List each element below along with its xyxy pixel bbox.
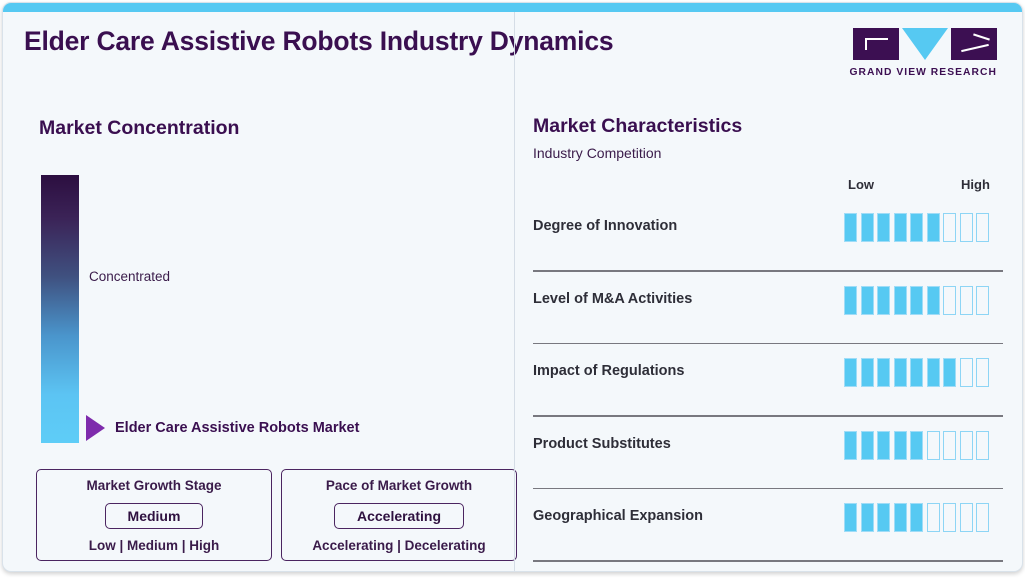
logo-triangle-icon: [902, 28, 948, 60]
logo-marks: [849, 28, 997, 62]
pace-of-market-growth-options: Accelerating | Decelerating: [312, 538, 485, 553]
rating-segment-empty: [960, 431, 973, 460]
rating-segment-filled: [877, 286, 890, 315]
rating-segment-filled: [861, 213, 874, 242]
characteristic-rating-bars: [844, 286, 989, 315]
rating-segment-filled: [910, 358, 923, 387]
infographic-card: Elder Care Assistive Robots Industry Dyn…: [2, 2, 1023, 572]
scale-label-concentrated: Concentrated: [89, 269, 170, 284]
market-concentration-title: Market Concentration: [39, 117, 239, 140]
stage-boxes: Market Growth Stage Medium Low | Medium …: [36, 469, 517, 561]
rating-segment-filled: [861, 358, 874, 387]
pace-of-market-growth-value: Accelerating: [334, 503, 464, 529]
rating-segment-empty: [943, 431, 956, 460]
characteristic-row: Geographical Expansion: [515, 489, 1023, 562]
rating-segment-empty: [960, 503, 973, 532]
characteristic-rating-bars: [844, 503, 989, 532]
rating-segment-empty: [943, 286, 956, 315]
market-growth-stage-options: Low | Medium | High: [89, 538, 220, 553]
scale-head-low: Low: [848, 177, 874, 192]
characteristic-label: Product Substitutes: [533, 436, 671, 452]
rating-segment-empty: [976, 213, 989, 242]
rating-segment-filled: [877, 358, 890, 387]
rating-segment-filled: [894, 286, 907, 315]
rating-segment-empty: [960, 286, 973, 315]
rating-segment-filled: [943, 358, 956, 387]
characteristic-row: Product Substitutes: [515, 417, 1023, 490]
market-growth-stage-value: Medium: [105, 503, 204, 529]
logo-g-block-icon: [853, 28, 899, 60]
market-characteristics-title: Market Characteristics: [533, 115, 742, 138]
rating-segment-empty: [976, 358, 989, 387]
rating-segment-empty: [976, 286, 989, 315]
row-divider: [533, 560, 1003, 562]
characteristics-rows: Degree of InnovationLevel of M&A Activit…: [515, 199, 1023, 562]
marker-label: Elder Care Assistive Robots Market: [115, 420, 359, 436]
rating-segment-empty: [960, 213, 973, 242]
rating-segment-filled: [927, 213, 940, 242]
rating-segment-filled: [861, 431, 874, 460]
market-position-marker: Elder Care Assistive Robots Market: [86, 415, 359, 441]
rating-segment-filled: [894, 358, 907, 387]
characteristic-row: Degree of Innovation: [515, 199, 1023, 272]
rating-segment-filled: [894, 431, 907, 460]
rating-segment-filled: [910, 213, 923, 242]
rating-segment-filled: [861, 503, 874, 532]
rating-segment-filled: [844, 431, 857, 460]
characteristic-rating-bars: [844, 431, 989, 460]
market-concentration-panel: Market Concentration Concentrated Fragme…: [3, 95, 513, 572]
rating-segment-empty: [960, 358, 973, 387]
header: Elder Care Assistive Robots Industry Dyn…: [3, 12, 1022, 90]
rating-segment-filled: [844, 503, 857, 532]
rating-segment-filled: [910, 431, 923, 460]
characteristic-rating-bars: [844, 358, 989, 387]
logo-wordmark: GRAND VIEW RESEARCH: [849, 67, 997, 78]
top-accent-bar: [3, 3, 1022, 12]
rating-segment-filled: [844, 286, 857, 315]
logo-r-block-icon: [951, 28, 997, 60]
rating-segment-empty: [943, 503, 956, 532]
characteristic-label: Geographical Expansion: [533, 508, 703, 524]
rating-segment-empty: [976, 431, 989, 460]
rating-segment-filled: [844, 358, 857, 387]
rating-segment-empty: [927, 503, 940, 532]
brand-logo: GRAND VIEW RESEARCH: [849, 28, 997, 78]
marker-arrow-icon: [86, 415, 105, 441]
characteristic-label: Degree of Innovation: [533, 218, 677, 234]
rating-segment-filled: [844, 213, 857, 242]
market-growth-stage-box: Market Growth Stage Medium Low | Medium …: [36, 469, 272, 561]
characteristic-row: Level of M&A Activities: [515, 272, 1023, 345]
rating-segment-filled: [927, 358, 940, 387]
rating-segment-filled: [894, 503, 907, 532]
pace-of-market-growth-title: Pace of Market Growth: [326, 478, 472, 493]
rating-segment-filled: [877, 503, 890, 532]
rating-segment-filled: [861, 286, 874, 315]
characteristic-label: Level of M&A Activities: [533, 291, 692, 307]
scale-head-high: High: [961, 177, 990, 192]
rating-segment-filled: [877, 213, 890, 242]
market-characteristics-panel: Market Characteristics Industry Competit…: [515, 95, 1023, 572]
characteristic-rating-bars: [844, 213, 989, 242]
rating-segment-filled: [910, 286, 923, 315]
characteristic-row: Impact of Regulations: [515, 344, 1023, 417]
concentration-gradient-scale: [41, 175, 79, 443]
rating-segment-empty: [927, 431, 940, 460]
rating-segment-empty: [976, 503, 989, 532]
market-characteristics-subtitle: Industry Competition: [533, 145, 661, 161]
market-growth-stage-title: Market Growth Stage: [86, 478, 221, 493]
rating-segment-empty: [943, 213, 956, 242]
page-title: Elder Care Assistive Robots Industry Dyn…: [24, 26, 613, 57]
rating-segment-filled: [894, 213, 907, 242]
rating-segment-filled: [910, 503, 923, 532]
rating-segment-filled: [927, 286, 940, 315]
characteristic-label: Impact of Regulations: [533, 363, 684, 379]
rating-segment-filled: [877, 431, 890, 460]
pace-of-market-growth-box: Pace of Market Growth Accelerating Accel…: [281, 469, 517, 561]
